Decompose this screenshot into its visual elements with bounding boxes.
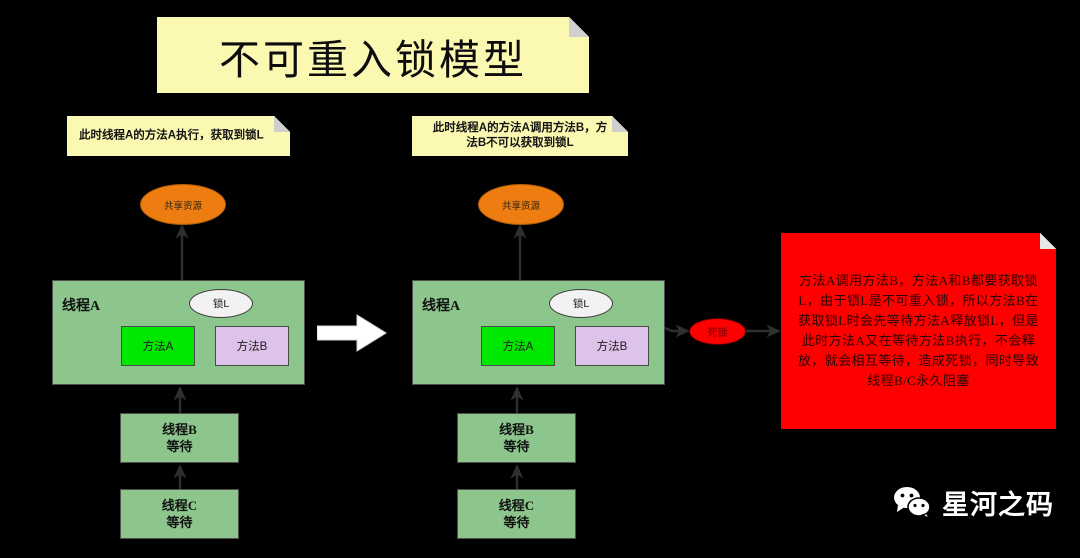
explanation-text: 方法A调用方法B，方法A和B都要获取锁L，由于锁L是不可重入锁，所以方法B在获取…: [793, 271, 1044, 391]
shared-resource-left-label: 共享资源: [164, 198, 202, 212]
thread-c-box-left: 线程C 等待: [120, 489, 239, 539]
shared-resource-right: 共享资源: [478, 184, 564, 225]
deadlock-label: 死锁: [708, 324, 728, 339]
caption-note-left: 此时线程A的方法A执行，获取到锁L: [67, 116, 290, 156]
thread-b-box-right: 线程B 等待: [457, 413, 576, 463]
caption-note-right: 此时线程A的方法A调用方法B，方 法B不可以获取到锁L: [412, 116, 628, 156]
lock-label-left: 锁L: [213, 296, 229, 311]
caption-note-right-text: 此时线程A的方法A调用方法B，方 法B不可以获取到锁L: [420, 121, 620, 151]
watermark-text: 星河之码: [942, 483, 1054, 522]
thread-b-state-left: 等待: [166, 438, 192, 455]
lock-label-right: 锁L: [573, 296, 589, 311]
page-fold-icon: [1040, 233, 1056, 249]
thread-a-panel-right: 线程A 锁L 方法A 方法B: [412, 280, 665, 385]
thread-b-name-left: 线程B: [162, 421, 197, 438]
thread-b-state-right: 等待: [503, 438, 529, 455]
lock-ellipse-right: 锁L: [549, 289, 613, 318]
explanation-note: 方法A调用方法B，方法A和B都要获取锁L，由于锁L是不可重入锁，所以方法B在获取…: [781, 233, 1056, 429]
thread-b-name-right: 线程B: [499, 421, 534, 438]
method-b-box-right: 方法B: [575, 326, 649, 366]
thread-c-state-right: 等待: [503, 514, 529, 531]
watermark: 星河之码: [893, 483, 1054, 522]
method-a-box-right: 方法A: [481, 326, 555, 366]
thread-c-name-right: 线程C: [499, 497, 534, 514]
shared-resource-right-label: 共享资源: [502, 198, 540, 212]
thread-a-label-right: 线程A: [422, 295, 460, 315]
title-sticky-note: 不可重入锁模型: [157, 17, 589, 93]
shared-resource-left: 共享资源: [140, 184, 226, 225]
thread-c-state-left: 等待: [166, 514, 192, 531]
deadlock-badge: 死锁: [689, 318, 746, 345]
caption-note-left-text: 此时线程A的方法A执行，获取到锁L: [75, 129, 282, 144]
thread-b-box-left: 线程B 等待: [120, 413, 239, 463]
thread-a-panel-left: 线程A 锁L 方法A 方法B: [52, 280, 305, 385]
diagram-canvas: 不可重入锁模型 此时线程A的方法A执行，获取到锁L 此时线程A的方法A调用方法B…: [0, 0, 1080, 558]
lock-ellipse-left: 锁L: [189, 289, 253, 318]
method-b-box-left: 方法B: [215, 326, 289, 366]
thread-a-label-left: 线程A: [62, 295, 100, 315]
method-a-label-left: 方法A: [143, 338, 174, 354]
method-a-box-left: 方法A: [121, 326, 195, 366]
method-b-label-left: 方法B: [237, 338, 268, 354]
wechat-icon: [893, 486, 933, 519]
thread-c-box-right: 线程C 等待: [457, 489, 576, 539]
method-b-label-right: 方法B: [597, 338, 628, 354]
thread-c-name-left: 线程C: [162, 497, 197, 514]
method-a-label-right: 方法A: [503, 338, 534, 354]
right-block-arrow-icon: [317, 314, 387, 352]
page-title: 不可重入锁模型: [157, 26, 589, 86]
